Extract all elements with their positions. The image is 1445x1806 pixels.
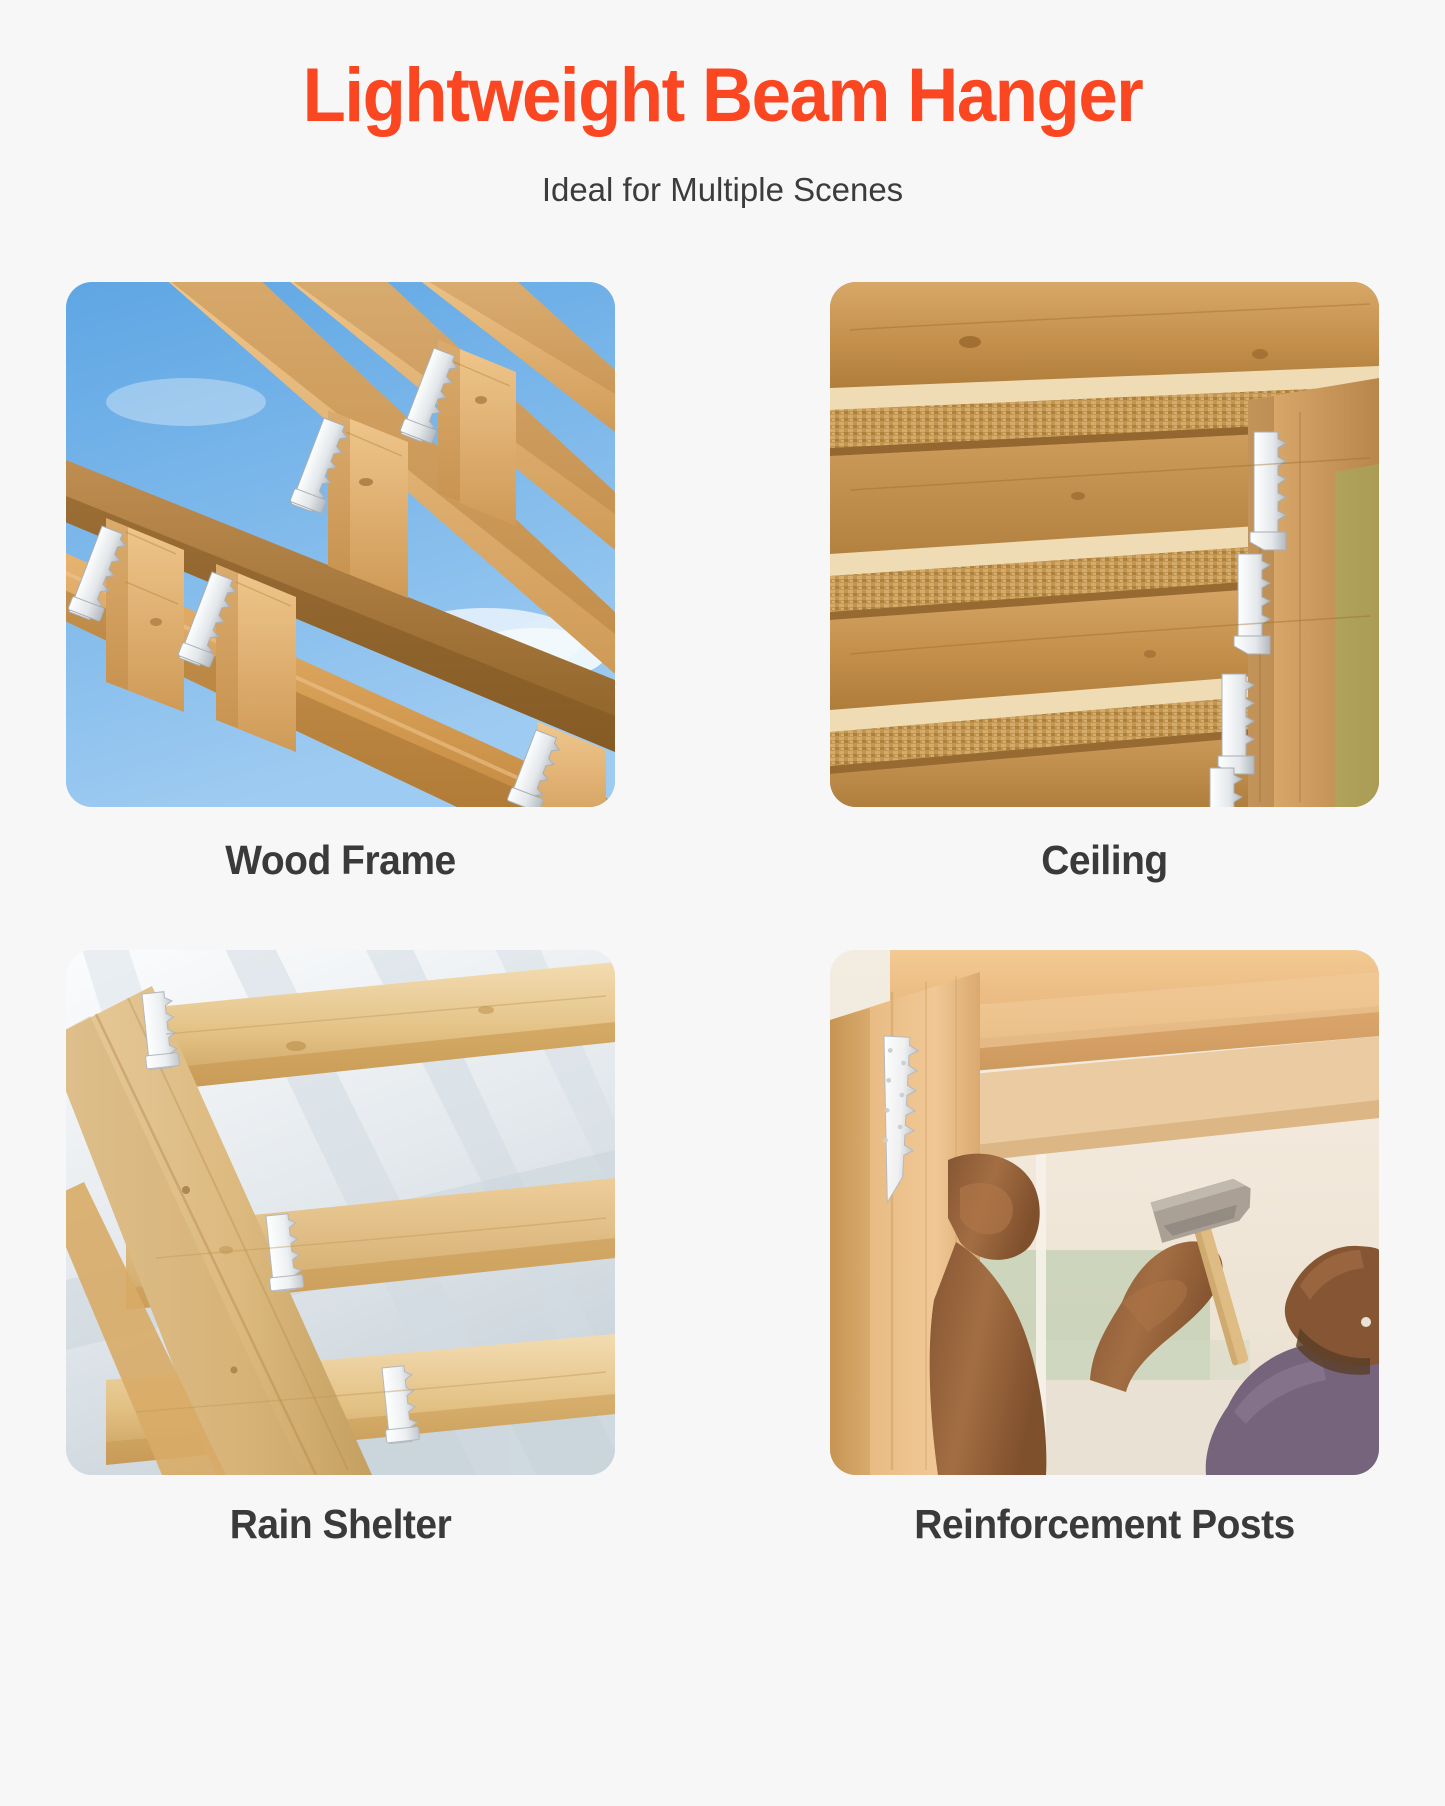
scene-card-wood-frame: Wood Frame [66,282,615,884]
scene-caption-reinforcement-posts: Reinforcement Posts [844,1501,1366,1548]
product-feature-page: Lightweight Beam Hanger Ideal for Multip… [0,0,1445,1806]
scene-image-ceiling [830,282,1379,807]
scene-image-rain-shelter [66,950,615,1475]
scene-card-reinforcement-posts: Reinforcement Posts [830,950,1379,1548]
scene-grid: Wood Frame [66,282,1379,1548]
scene-card-ceiling: Ceiling [830,282,1379,884]
scene-image-wood-frame [66,282,615,807]
page-header: Lightweight Beam Hanger Ideal for Multip… [0,0,1445,208]
page-title: Lightweight Beam Hanger [51,58,1395,134]
scene-image-reinforcement-posts [830,950,1379,1475]
scene-card-rain-shelter: Rain Shelter [66,950,615,1548]
page-subtitle: Ideal for Multiple Scenes [0,172,1445,208]
scene-caption-rain-shelter: Rain Shelter [80,1501,602,1548]
scene-caption-wood-frame: Wood Frame [80,837,602,884]
scene-caption-ceiling: Ceiling [844,837,1366,884]
